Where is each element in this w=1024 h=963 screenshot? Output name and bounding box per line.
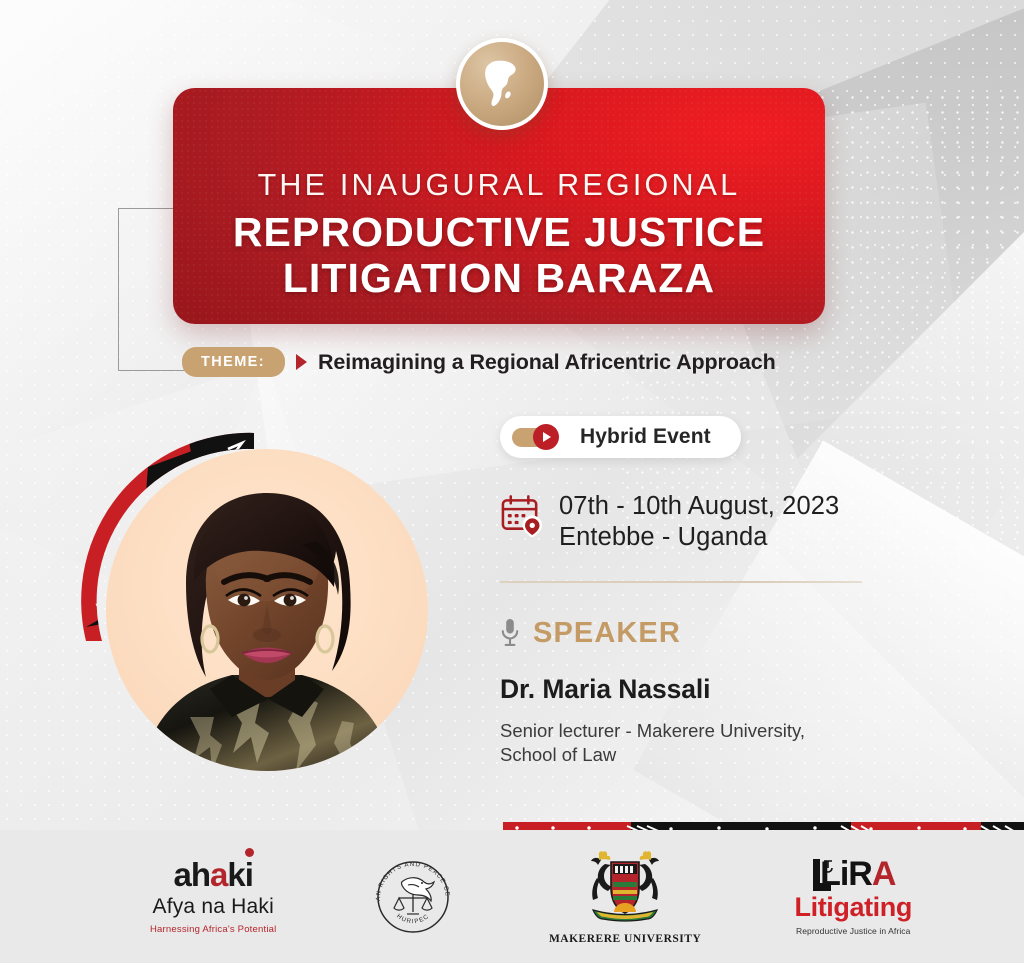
date-location-block: 07th - 10th August, 2023 Entebbe - Ugand… xyxy=(500,491,920,553)
banner-title-line2: LITIGATION BARAZA xyxy=(283,256,715,302)
ahaki-wordmark: ahaki xyxy=(174,858,253,891)
hybrid-event-label: Hybrid Event xyxy=(580,425,711,449)
speaker-title-line2: School of Law xyxy=(500,743,920,768)
triangle-right-icon xyxy=(296,354,307,370)
microphone-icon xyxy=(500,618,520,648)
ahaki-word-part1: ah xyxy=(174,858,211,891)
event-location: Entebbe - Uganda xyxy=(559,522,839,553)
play-toggle-icon xyxy=(512,428,556,447)
theme-row: THEME: Reimagining a Regional Africentri… xyxy=(182,347,776,377)
logo-huripec: HUMAN RIGHTS AND PEACE CENTRE HURIPEC xyxy=(370,854,456,940)
ahaki-word-part2: a xyxy=(210,858,227,891)
speaker-portrait xyxy=(78,427,438,797)
dove-scales-icon: HUMAN RIGHTS AND PEACE CENTRE HURIPEC xyxy=(370,854,456,940)
makerere-name: MAKERERE UNIVERSITY xyxy=(549,933,701,945)
africa-continent-icon xyxy=(456,38,548,130)
speaker-title-line1: Senior lecturer - Makerere University, xyxy=(500,719,920,744)
ahaki-dot-icon xyxy=(245,848,254,857)
section-divider xyxy=(500,581,862,583)
hybrid-event-badge[interactable]: Hybrid Event xyxy=(500,416,741,458)
logo-lira: LiRA Litigating Reproductive Justice in … xyxy=(795,857,912,936)
lira-word-red: A xyxy=(872,857,896,891)
speaker-section-label: SPEAKER xyxy=(533,617,681,650)
logo-ahaki: ahaki Afya na Haki Harnessing Africa's P… xyxy=(150,858,276,935)
banner-eyebrow: THE INAUGURAL REGIONAL xyxy=(258,168,741,203)
speaker-section-header: SPEAKER xyxy=(500,617,920,650)
calendar-location-icon xyxy=(500,493,543,537)
theme-text: Reimagining a Regional Africentric Appro… xyxy=(318,350,776,375)
lira-word-black: LiR xyxy=(820,857,872,891)
coat-of-arms-icon xyxy=(579,848,671,930)
ahaki-subtitle: Afya na Haki xyxy=(152,895,273,919)
footer-logo-bar: ahaki Afya na Haki Harnessing Africa's P… xyxy=(0,830,1024,963)
speaker-name: Dr. Maria Nassali xyxy=(500,674,920,705)
ahaki-word-part3: ki xyxy=(227,858,253,891)
ahaki-tagline: Harnessing Africa's Potential xyxy=(150,924,276,935)
theme-badge: THEME: xyxy=(182,347,285,377)
event-poster: THE INAUGURAL REGIONAL REPRODUCTIVE JUST… xyxy=(0,0,1024,963)
portrait-disc xyxy=(106,449,428,771)
lira-wordmark: LiRA xyxy=(811,857,895,891)
event-dates: 07th - 10th August, 2023 xyxy=(559,491,839,522)
lira-tagline: Reproductive Justice in Africa xyxy=(796,926,911,936)
lira-subtitle: Litigating xyxy=(795,894,912,921)
logo-makerere: MAKERERE UNIVERSITY xyxy=(549,848,701,945)
speaker-title: Senior lecturer - Makerere University, S… xyxy=(500,719,920,768)
banner-title-line1: REPRODUCTIVE JUSTICE xyxy=(233,210,765,256)
event-info-column: Hybrid Event xyxy=(500,416,920,768)
